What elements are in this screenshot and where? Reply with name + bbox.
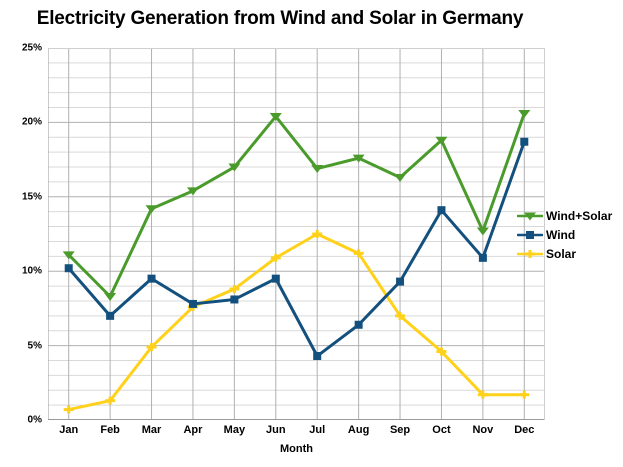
chart-container: Electricity Generation from Wind and Sol… [0, 0, 623, 467]
plot-area [48, 48, 545, 420]
marker-square [526, 231, 534, 239]
marker-square [65, 264, 73, 272]
marker-square [355, 321, 363, 329]
marker-square [396, 278, 404, 286]
legend-label: Solar [546, 247, 576, 261]
x-tick-label: Jan [59, 424, 78, 436]
x-tick-label: Jun [266, 424, 286, 436]
y-tick-label: 0% [0, 415, 42, 426]
x-tick-label: May [224, 424, 245, 436]
marker-square [106, 312, 114, 320]
y-tick-label: 25% [0, 43, 42, 54]
x-axis-title: Month [48, 443, 545, 455]
chart-legend: Wind+SolarWindSolar [517, 206, 623, 263]
x-tick-label: Aug [348, 424, 369, 436]
y-axis-label-area: Percent of Consumption [0, 48, 44, 420]
legend-item-wind-solar[interactable]: Wind+Solar [517, 206, 623, 225]
legend-swatch-icon [517, 247, 543, 261]
marker-plus [525, 250, 535, 258]
legend-label: Wind [546, 228, 575, 242]
marker-square [313, 352, 321, 360]
chart-title: Electricity Generation from Wind and Sol… [0, 8, 560, 30]
marker-square [520, 138, 528, 146]
plot-background [48, 48, 545, 420]
x-tick-label: Nov [472, 424, 493, 436]
x-tick-label: Apr [183, 424, 202, 436]
marker-square [189, 300, 197, 308]
x-tick-label: Feb [100, 424, 120, 436]
legend-label: Wind+Solar [546, 209, 612, 223]
x-tick-label: Mar [142, 424, 162, 436]
legend-item-solar[interactable]: Solar [517, 244, 623, 263]
marker-square [230, 295, 238, 303]
legend-swatch-icon [517, 228, 543, 242]
y-tick-label: 20% [0, 117, 42, 128]
x-tick-label: Jul [309, 424, 325, 436]
x-tick-label: Sep [390, 424, 410, 436]
y-tick-label: 5% [0, 340, 42, 351]
x-tick-label: Oct [432, 424, 450, 436]
marker-square [148, 275, 156, 283]
legend-item-wind[interactable]: Wind [517, 225, 623, 244]
x-axis-tick-labels: JanFebMarAprMayJunJulAugSepOctNovDec [48, 421, 545, 443]
y-tick-label: 15% [0, 191, 42, 202]
marker-square [272, 275, 280, 283]
y-tick-label: 10% [0, 266, 42, 277]
marker-square [479, 254, 487, 262]
legend-swatch-icon [517, 209, 543, 223]
chart-plot-svg [48, 48, 545, 420]
x-tick-label: Dec [514, 424, 534, 436]
marker-square [437, 206, 445, 214]
